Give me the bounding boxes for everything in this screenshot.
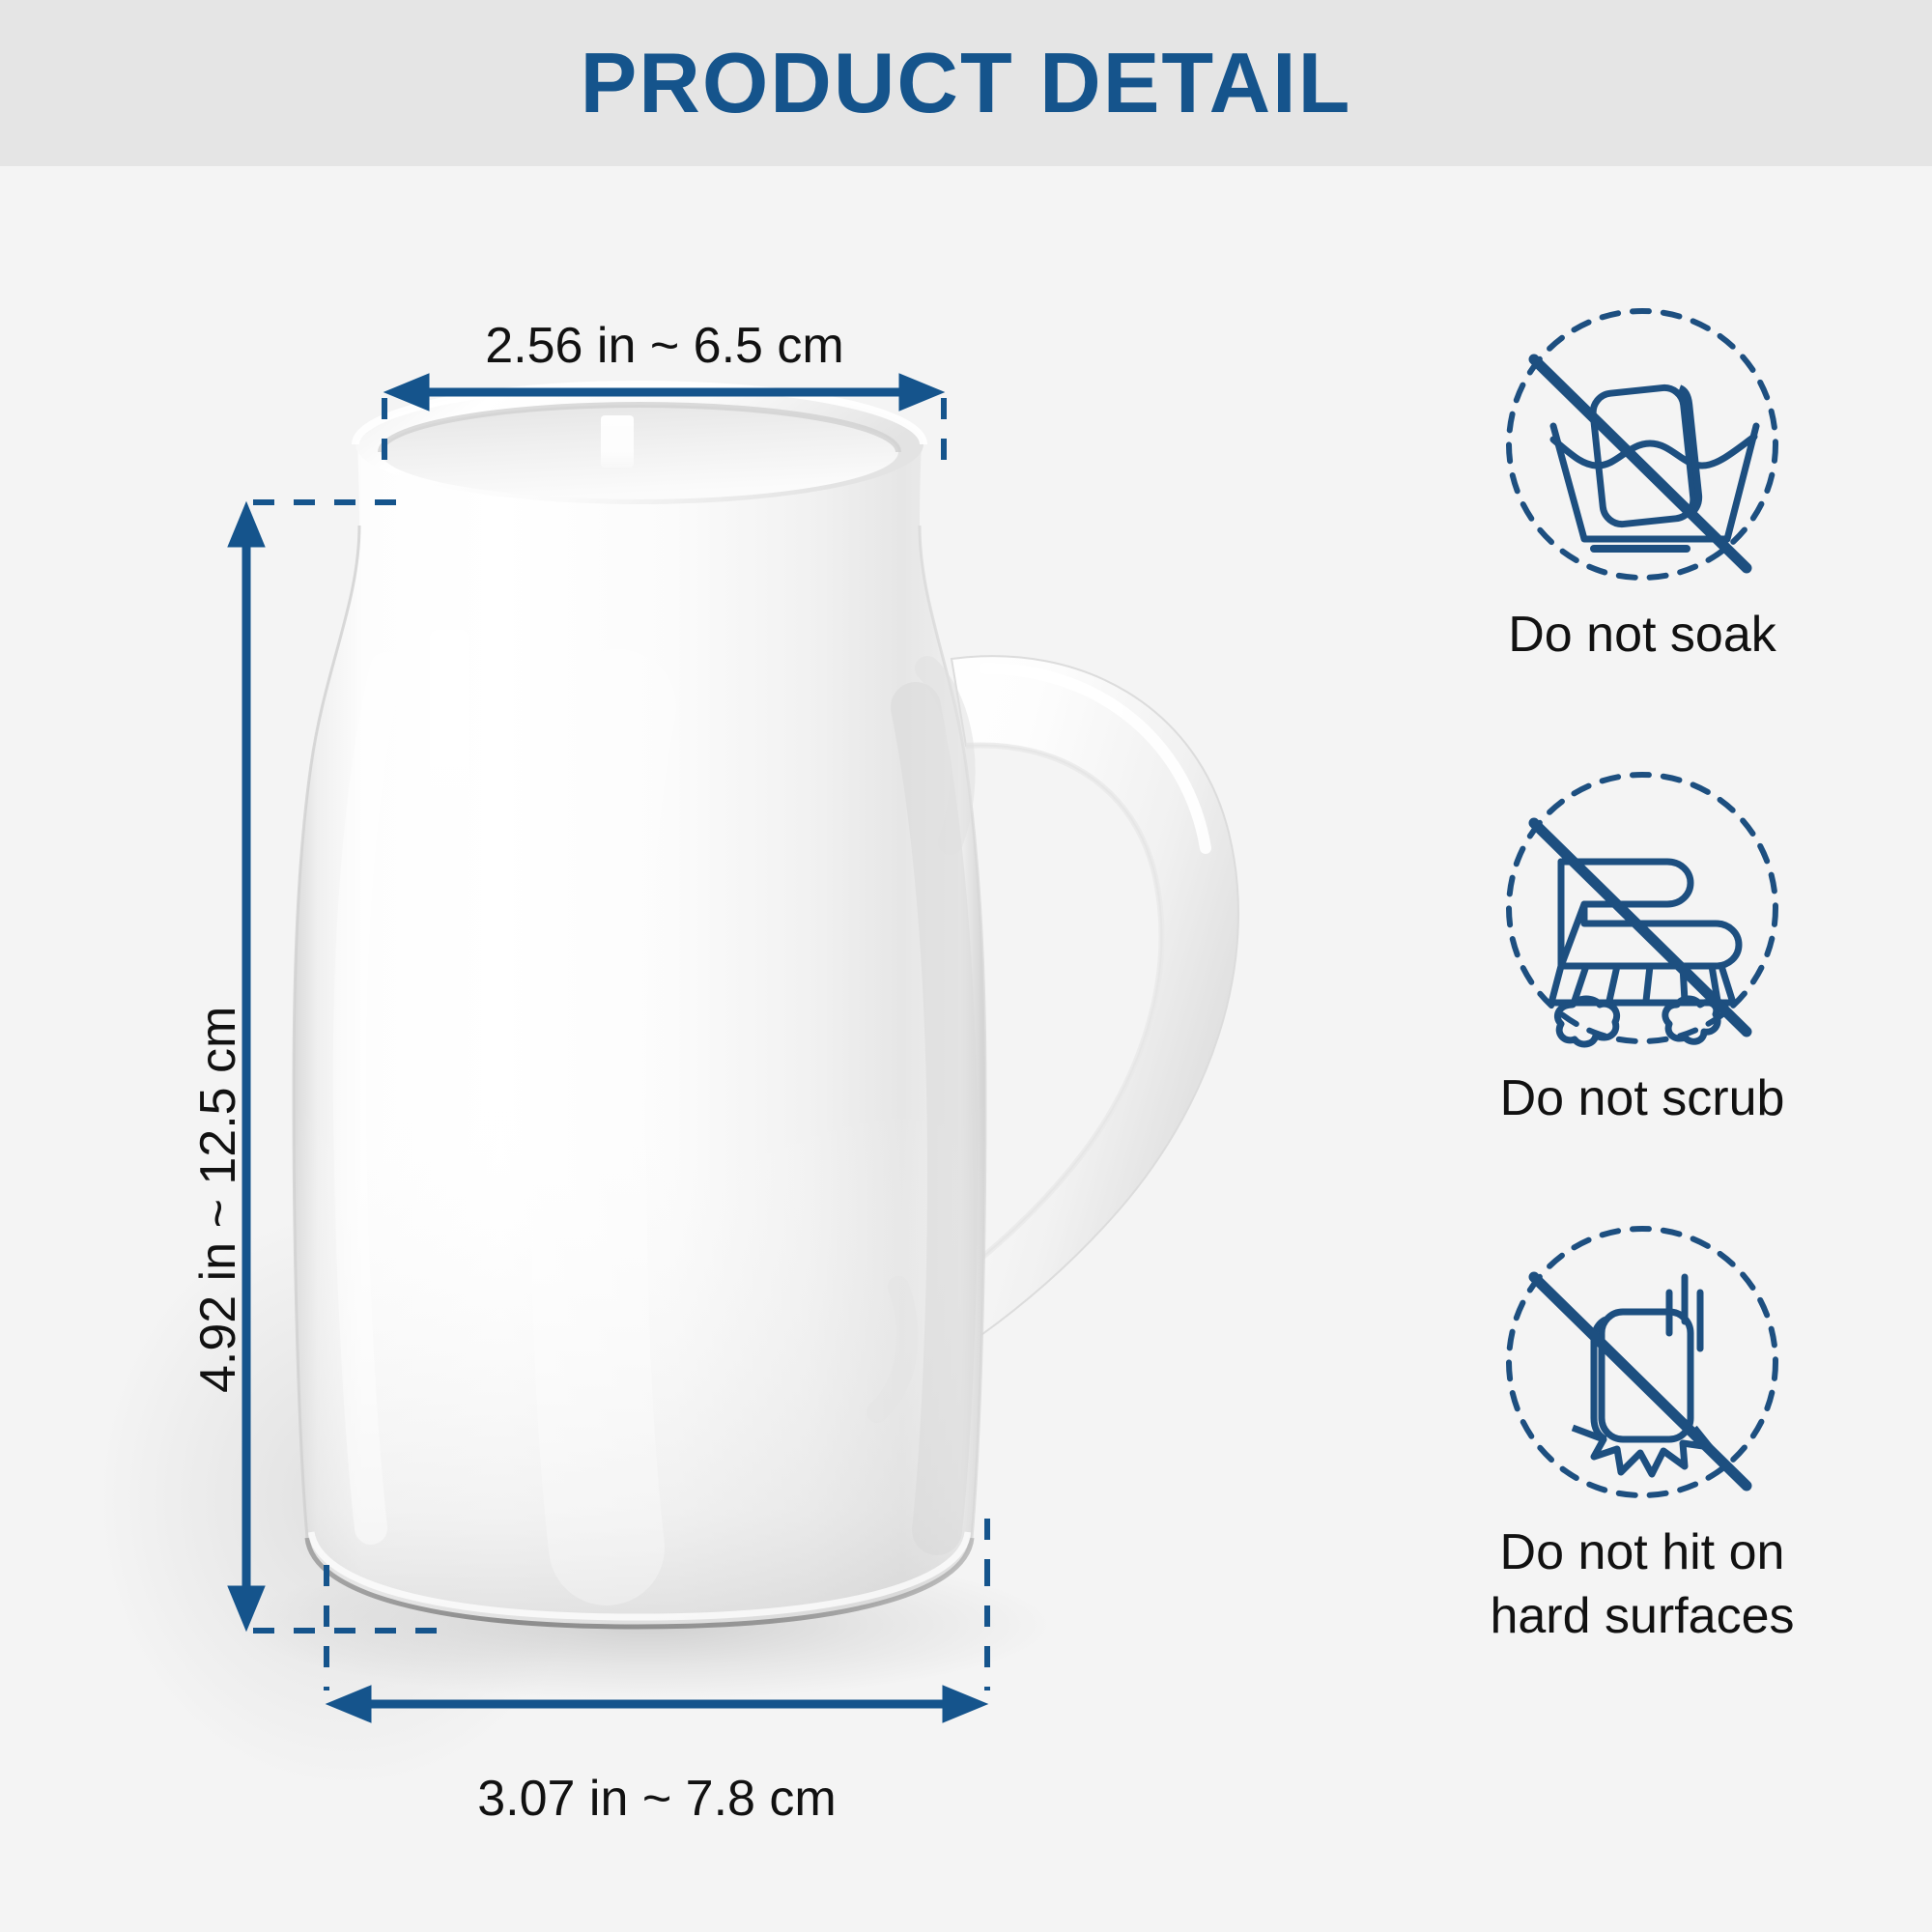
mug-highlight-upper	[430, 630, 469, 813]
page-title: PRODUCT DETAIL	[0, 0, 1932, 166]
dim-base-arrowhead-right	[943, 1686, 987, 1722]
care-caption-line-2: hard surfaces	[1490, 1588, 1794, 1644]
dim-top-arrowhead-right	[899, 374, 944, 411]
brush-shape	[1551, 862, 1739, 1044]
care-instructions-list: Do not soak	[1352, 166, 1932, 1932]
mug-highlight-rim	[601, 415, 634, 468]
care-instruction-caption: Do not scrub	[1500, 1066, 1785, 1130]
care-instruction-caption: Do not hit on hard surfaces	[1490, 1520, 1794, 1648]
dim-height-arrowhead-top	[228, 502, 265, 547]
dimension-label-height: 4.92 in ~ 12.5 cm	[189, 1007, 247, 1393]
care-caption-line-1: Do not hit on	[1500, 1524, 1785, 1580]
no-scrub-brush-icon	[1497, 763, 1787, 1053]
dimension-label-base-diameter: 3.07 in ~ 7.8 cm	[327, 1770, 987, 1828]
dim-top-arrowhead-left	[384, 374, 429, 411]
care-instruction-item: Do not scrub	[1352, 763, 1932, 1130]
product-figure: 2.56 in ~ 6.5 cm 4.92 in ~ 12.5 cm 3.07 …	[0, 166, 1352, 1932]
no-impact-icon	[1497, 1217, 1787, 1507]
care-instruction-caption: Do not soak	[1508, 603, 1776, 667]
no-soak-icon	[1497, 299, 1787, 589]
content-stage: 2.56 in ~ 6.5 cm 4.92 in ~ 12.5 cm 3.07 …	[0, 166, 1932, 1932]
basin-shape	[1553, 426, 1756, 549]
mug-highlight-soft-center	[588, 707, 618, 1548]
care-instruction-item: Do not soak	[1352, 299, 1932, 667]
care-instruction-item: Do not hit on hard surfaces	[1352, 1217, 1932, 1648]
dimension-label-top-diameter: 2.56 in ~ 6.5 cm	[384, 317, 945, 375]
product-detail-page: PRODUCT DETAIL	[0, 0, 1932, 1932]
